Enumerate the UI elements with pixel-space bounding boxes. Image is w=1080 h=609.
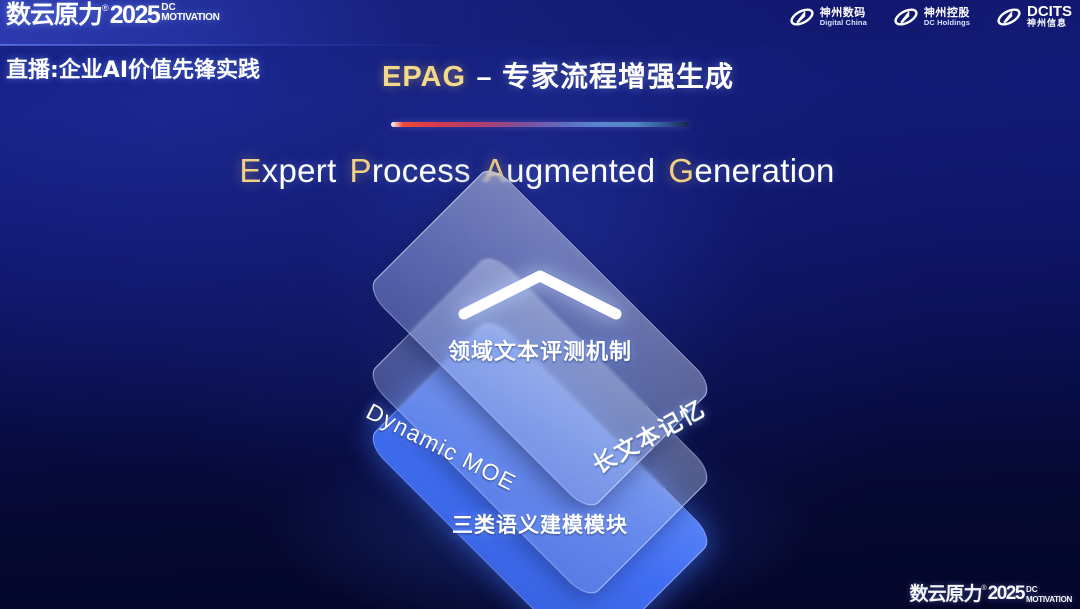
watermark-cn: 数云原力 [909,584,981,604]
corner-watermark-logo: 数云原力 ® 2025 DC MOTIVATION [909,584,1072,605]
watermark-dc-line2: MOTIVATION [1026,595,1072,605]
layer-label-bottom: 三类语义建模模块 [0,509,1080,539]
presentation-slide: 数云原力 ® 2025 DC MOTIVATION 直播:企业AI价值先锋实践 … [0,0,1080,609]
layered-architecture-diagram: 领域文本评测机制 Dynamic MOE 长文本记忆 三类语义建模模块 [0,0,1080,609]
watermark-dc-line1: DC [1026,585,1072,595]
watermark-year: 2025 [988,584,1024,604]
chevron-up-icon [454,264,626,324]
layer-label-top: 领域文本评测机制 [0,334,1080,366]
watermark-dc: DC MOTIVATION [1026,584,1072,605]
watermark-registered: ® [982,584,987,593]
